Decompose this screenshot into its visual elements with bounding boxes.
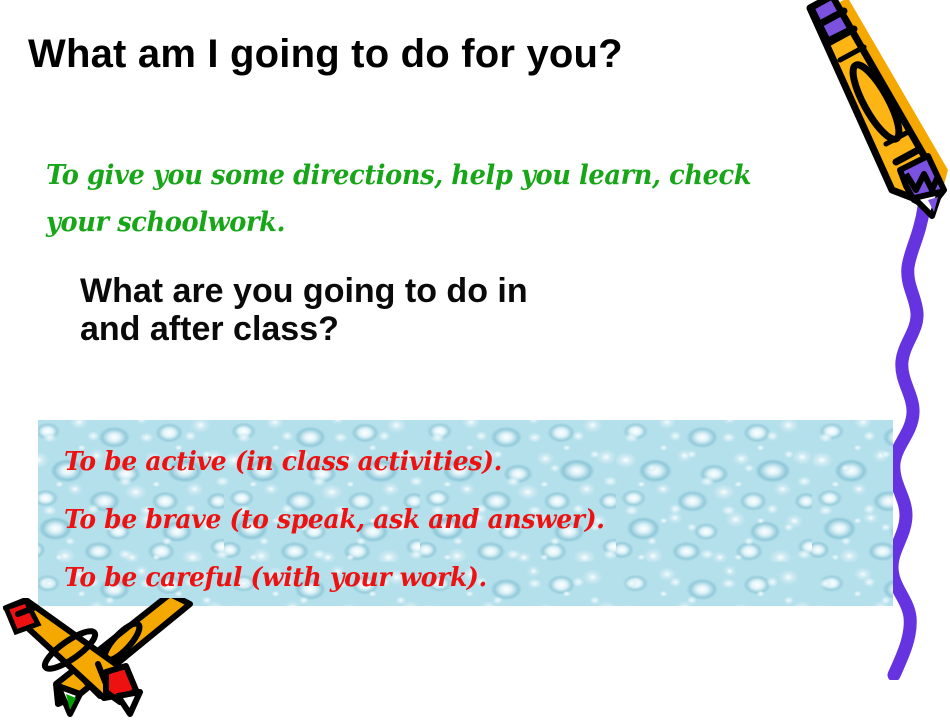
list-item: To be careful (with your work).	[64, 549, 850, 606]
teacher-role-line: your schoolwork.	[46, 199, 768, 246]
goals-list: To be active (in class activities). To b…	[64, 433, 883, 606]
slide-canvas: To be active (in class activities). To b…	[0, 0, 950, 713]
teacher-role-line: To give you some directions, help you le…	[46, 152, 768, 199]
section-heading-line: and after class?	[80, 310, 740, 348]
list-item: To be active (in class activities).	[64, 433, 850, 491]
section-heading-line: What are you going to do in	[80, 272, 740, 310]
section-heading: What are you going to do in and after cl…	[80, 272, 740, 348]
teacher-role-text: To give you some directions, help you le…	[46, 152, 768, 246]
crossed-crayons-icon	[0, 598, 194, 718]
water-texture-panel: To be active (in class activities). To b…	[38, 420, 893, 606]
page-title: What am I going to do for you?	[28, 31, 828, 77]
list-item: To be brave (to speak, ask and answer).	[64, 491, 850, 549]
